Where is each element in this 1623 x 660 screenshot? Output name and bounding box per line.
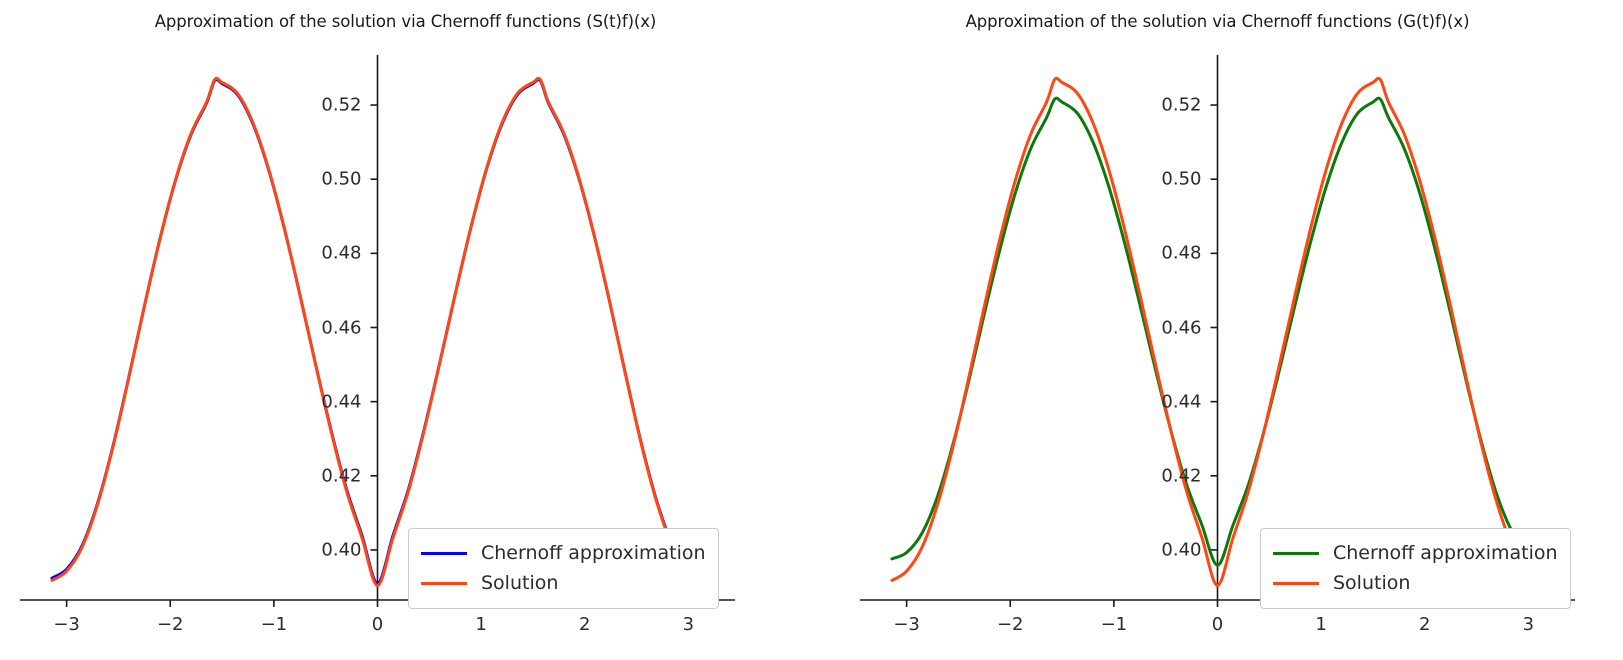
plot-title-right: Approximation of the solution via Cherno… [812, 12, 1623, 31]
y-tick-label: 0.46 [306, 317, 362, 338]
x-tick-label: −3 [893, 614, 920, 635]
x-tick-label: 0 [372, 614, 383, 635]
y-tick-label: 0.52 [1146, 95, 1202, 116]
plot-panel-right: Approximation of the solution via Cherno… [812, 0, 1623, 660]
legend-right[interactable]: Chernoff approximation Solution [1260, 528, 1571, 609]
x-tick-label: −1 [1101, 614, 1128, 635]
y-tick-label: 0.50 [1146, 169, 1202, 190]
legend-swatch-chernoff-approximation [421, 552, 467, 555]
x-tick-label: 2 [579, 614, 590, 635]
x-tick-label: −2 [997, 614, 1024, 635]
figure-canvas: Approximation of the solution via Cherno… [0, 0, 1623, 660]
plot-title-left: Approximation of the solution via Cherno… [0, 12, 811, 31]
x-tick-label: 2 [1419, 614, 1430, 635]
x-tick-label: 0 [1212, 614, 1223, 635]
x-tick-label: 1 [475, 614, 486, 635]
x-tick-label: 3 [683, 614, 694, 635]
y-tick-label: 0.52 [306, 95, 362, 116]
legend-swatch-solution [421, 582, 467, 585]
y-tick-label: 0.50 [306, 169, 362, 190]
legend-label-solution: Solution [481, 572, 558, 594]
x-tick-label: 3 [1523, 614, 1534, 635]
y-tick-label: 0.44 [306, 391, 362, 412]
y-tick-label: 0.46 [1146, 317, 1202, 338]
legend-swatch-solution [1273, 582, 1319, 585]
legend-item-solution[interactable]: Solution [1273, 568, 1558, 598]
legend-label-chernoff-approximation: Chernoff approximation [481, 542, 706, 564]
plot-panel-left: Approximation of the solution via Cherno… [0, 0, 811, 660]
y-tick-label: 0.48 [306, 243, 362, 264]
x-tick-label: −3 [53, 614, 80, 635]
legend-left[interactable]: Chernoff approximation Solution [408, 528, 719, 609]
legend-label-solution: Solution [1333, 572, 1410, 594]
y-tick-label: 0.48 [1146, 243, 1202, 264]
y-tick-label: 0.40 [306, 539, 362, 560]
legend-swatch-chernoff-approximation [1273, 552, 1319, 555]
y-tick-label: 0.42 [306, 465, 362, 486]
y-tick-label: 0.40 [1146, 539, 1202, 560]
axes-left: 0.400.420.440.460.480.500.52−3−2−10123 [20, 55, 735, 600]
y-tick-label: 0.44 [1146, 391, 1202, 412]
legend-item-solution[interactable]: Solution [421, 568, 706, 598]
plot-area-left [20, 55, 735, 600]
plot-area-right [860, 55, 1575, 600]
legend-item-chernoff-approximation[interactable]: Chernoff approximation [1273, 538, 1558, 568]
x-tick-label: −2 [157, 614, 184, 635]
y-tick-label: 0.42 [1146, 465, 1202, 486]
legend-label-chernoff-approximation: Chernoff approximation [1333, 542, 1558, 564]
axes-right: 0.400.420.440.460.480.500.52−3−2−10123 [860, 55, 1575, 600]
x-tick-label: 1 [1315, 614, 1326, 635]
x-tick-label: −1 [261, 614, 288, 635]
legend-item-chernoff-approximation[interactable]: Chernoff approximation [421, 538, 706, 568]
